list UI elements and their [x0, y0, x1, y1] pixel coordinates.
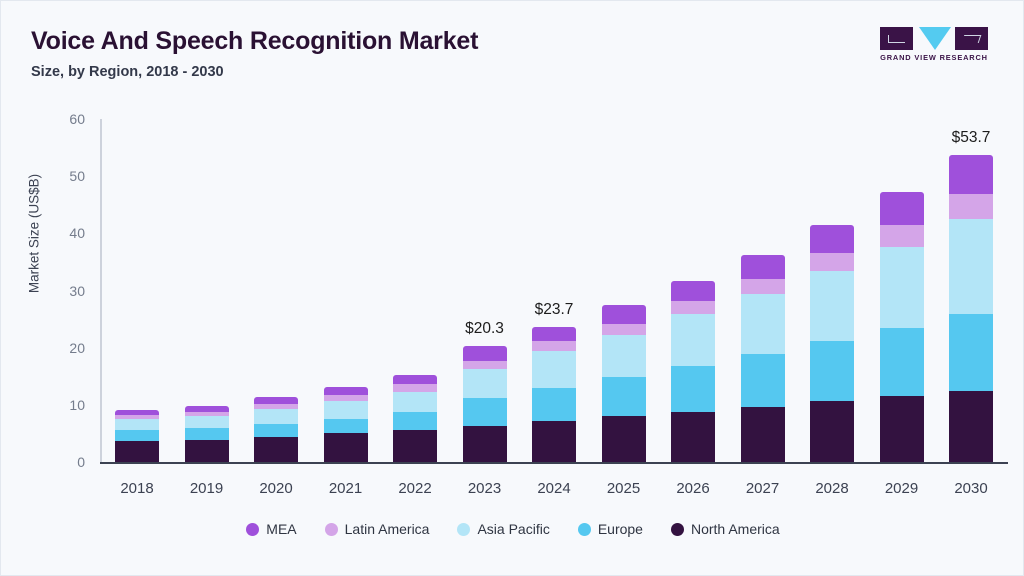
x-axis-tick-label: 2030 — [938, 480, 1004, 497]
bar-segment[interactable] — [532, 341, 576, 350]
bar-column[interactable]: 2028 — [799, 1, 865, 576]
bar-segment[interactable] — [602, 416, 646, 462]
bar-value-label: $23.7 — [509, 301, 599, 319]
bar-column[interactable]: 2026 — [660, 1, 726, 576]
bar-segment[interactable] — [532, 388, 576, 421]
bar-column[interactable]: $20.32023 — [452, 1, 518, 576]
bar-segment[interactable] — [393, 375, 437, 384]
bar-segment[interactable] — [810, 401, 854, 462]
legend-item-label: Europe — [598, 521, 643, 537]
bar-column[interactable]: 2018 — [104, 1, 170, 576]
bar-segment[interactable] — [602, 305, 646, 323]
bar-value-label: $53.7 — [926, 129, 1016, 147]
legend-swatch-icon — [671, 523, 684, 536]
x-axis-tick-label: 2026 — [660, 480, 726, 497]
bar-segment[interactable] — [671, 412, 715, 462]
bar-segment[interactable] — [949, 219, 993, 314]
x-axis-tick-label: 2022 — [382, 480, 448, 497]
bar-column[interactable]: 2029 — [869, 1, 935, 576]
stacked-bar[interactable] — [602, 305, 646, 462]
x-axis-tick-label: 2028 — [799, 480, 865, 497]
y-axis-tick-label: 50 — [45, 168, 85, 184]
stacked-bar[interactable] — [949, 155, 993, 462]
stacked-bar[interactable] — [880, 192, 924, 462]
bar-segment[interactable] — [324, 433, 368, 462]
bar-column[interactable]: 2020 — [243, 1, 309, 576]
x-axis-tick-label: 2018 — [104, 480, 170, 497]
stacked-bar[interactable] — [741, 255, 785, 462]
x-axis-tick-label: 2019 — [174, 480, 240, 497]
bar-segment[interactable] — [324, 387, 368, 395]
bar-segment[interactable] — [185, 440, 229, 462]
bar-segment[interactable] — [115, 430, 159, 441]
bar-segment[interactable] — [393, 430, 437, 462]
legend-item-europe[interactable]: Europe — [578, 521, 643, 537]
bar-segment[interactable] — [741, 294, 785, 354]
bar-segment[interactable] — [949, 155, 993, 194]
stacked-bar[interactable] — [254, 397, 298, 462]
legend-item-north-america[interactable]: North America — [671, 521, 780, 537]
bar-segment[interactable] — [810, 341, 854, 401]
y-axis-tick-label: 20 — [45, 340, 85, 356]
bar-segment[interactable] — [393, 412, 437, 430]
bar-segment[interactable] — [254, 397, 298, 404]
bar-segment[interactable] — [880, 328, 924, 396]
x-axis-tick-label: 2023 — [452, 480, 518, 497]
bar-segment[interactable] — [463, 361, 507, 369]
bar-segment[interactable] — [254, 409, 298, 423]
bar-segment[interactable] — [949, 194, 993, 219]
bar-column[interactable]: $53.72030 — [938, 1, 1004, 576]
bar-segment[interactable] — [254, 424, 298, 437]
stacked-bar[interactable] — [115, 410, 159, 462]
x-axis-tick-label: 2025 — [591, 480, 657, 497]
y-axis-tick-label: 60 — [45, 111, 85, 127]
x-axis-tick-label: 2027 — [730, 480, 796, 497]
bar-segment[interactable] — [949, 391, 993, 462]
bar-segment[interactable] — [463, 426, 507, 462]
bar-segment[interactable] — [810, 271, 854, 341]
stacked-bar[interactable] — [810, 225, 854, 462]
bar-segment[interactable] — [880, 396, 924, 462]
chart-page: Voice And Speech Recognition Market Size… — [0, 0, 1024, 576]
bar-segment[interactable] — [880, 192, 924, 225]
legend-item-label: Latin America — [345, 521, 430, 537]
y-axis-tick-label: 0 — [45, 454, 85, 470]
bar-segment[interactable] — [810, 225, 854, 253]
y-axis-title: Market Size (US$B) — [27, 139, 42, 329]
legend-item-label: Asia Pacific — [477, 521, 549, 537]
bar-segment[interactable] — [741, 255, 785, 278]
legend-swatch-icon — [578, 523, 591, 536]
bar-column[interactable]: 2027 — [730, 1, 796, 576]
bar-segment[interactable] — [463, 346, 507, 361]
bar-segment[interactable] — [671, 301, 715, 314]
bar-segment[interactable] — [324, 401, 368, 418]
y-axis-tick-label: 40 — [45, 225, 85, 241]
bar-segment[interactable] — [949, 314, 993, 391]
bar-segment[interactable] — [254, 437, 298, 462]
bar-segment[interactable] — [115, 441, 159, 462]
legend-item-label: MEA — [266, 521, 296, 537]
stacked-bar[interactable] — [671, 281, 715, 462]
bar-segment[interactable] — [463, 369, 507, 398]
bar-segment[interactable] — [602, 335, 646, 377]
legend-item-label: North America — [691, 521, 780, 537]
bar-segment[interactable] — [671, 281, 715, 300]
legend-item-asia-pacific[interactable]: Asia Pacific — [457, 521, 549, 537]
stacked-bar[interactable] — [393, 375, 437, 462]
stacked-bar[interactable] — [185, 406, 229, 462]
bar-segment[interactable] — [324, 419, 368, 434]
bar-segment[interactable] — [532, 351, 576, 388]
bar-segment[interactable] — [602, 377, 646, 416]
bar-column[interactable]: 2019 — [174, 1, 240, 576]
legend-swatch-icon — [457, 523, 470, 536]
x-axis-tick-label: 2020 — [243, 480, 309, 497]
bar-segment[interactable] — [741, 407, 785, 462]
legend-item-mea[interactable]: MEA — [246, 521, 296, 537]
y-axis-tick-label: 30 — [45, 283, 85, 299]
bar-segment[interactable] — [602, 324, 646, 335]
bar-segment[interactable] — [185, 416, 229, 428]
bar-segment[interactable] — [393, 392, 437, 413]
y-axis-line — [100, 119, 102, 462]
bar-segment[interactable] — [463, 398, 507, 426]
x-axis-tick-label: 2024 — [521, 480, 587, 497]
bar-segment[interactable] — [880, 247, 924, 328]
legend-item-latin-america[interactable]: Latin America — [325, 521, 430, 537]
chart-legend: MEALatin AmericaAsia PacificEuropeNorth … — [1, 521, 1024, 537]
bar-column[interactable]: 2022 — [382, 1, 448, 576]
stacked-bar-chart: Market Size (US$B) 0102030405060 2018201… — [1, 1, 1024, 576]
bar-segment[interactable] — [810, 253, 854, 271]
bar-segment[interactable] — [115, 419, 159, 430]
bar-segment[interactable] — [741, 354, 785, 407]
bar-segment[interactable] — [671, 366, 715, 412]
stacked-bar[interactable] — [463, 346, 507, 462]
bar-column[interactable]: 2021 — [313, 1, 379, 576]
bar-segment[interactable] — [185, 428, 229, 439]
bar-column[interactable]: 2025 — [591, 1, 657, 576]
bar-segment[interactable] — [880, 225, 924, 247]
x-axis-tick-label: 2029 — [869, 480, 935, 497]
bar-segment[interactable] — [671, 314, 715, 366]
bar-segment[interactable] — [393, 384, 437, 391]
x-axis-tick-label: 2021 — [313, 480, 379, 497]
legend-swatch-icon — [246, 523, 259, 536]
y-axis-tick-label: 10 — [45, 397, 85, 413]
bar-segment[interactable] — [532, 421, 576, 462]
bar-segment[interactable] — [741, 279, 785, 294]
legend-swatch-icon — [325, 523, 338, 536]
bar-value-label: $20.3 — [440, 320, 530, 338]
bar-segment[interactable] — [532, 327, 576, 342]
stacked-bar[interactable] — [532, 327, 576, 462]
stacked-bar[interactable] — [324, 387, 368, 462]
bar-column[interactable]: $23.72024 — [521, 1, 587, 576]
